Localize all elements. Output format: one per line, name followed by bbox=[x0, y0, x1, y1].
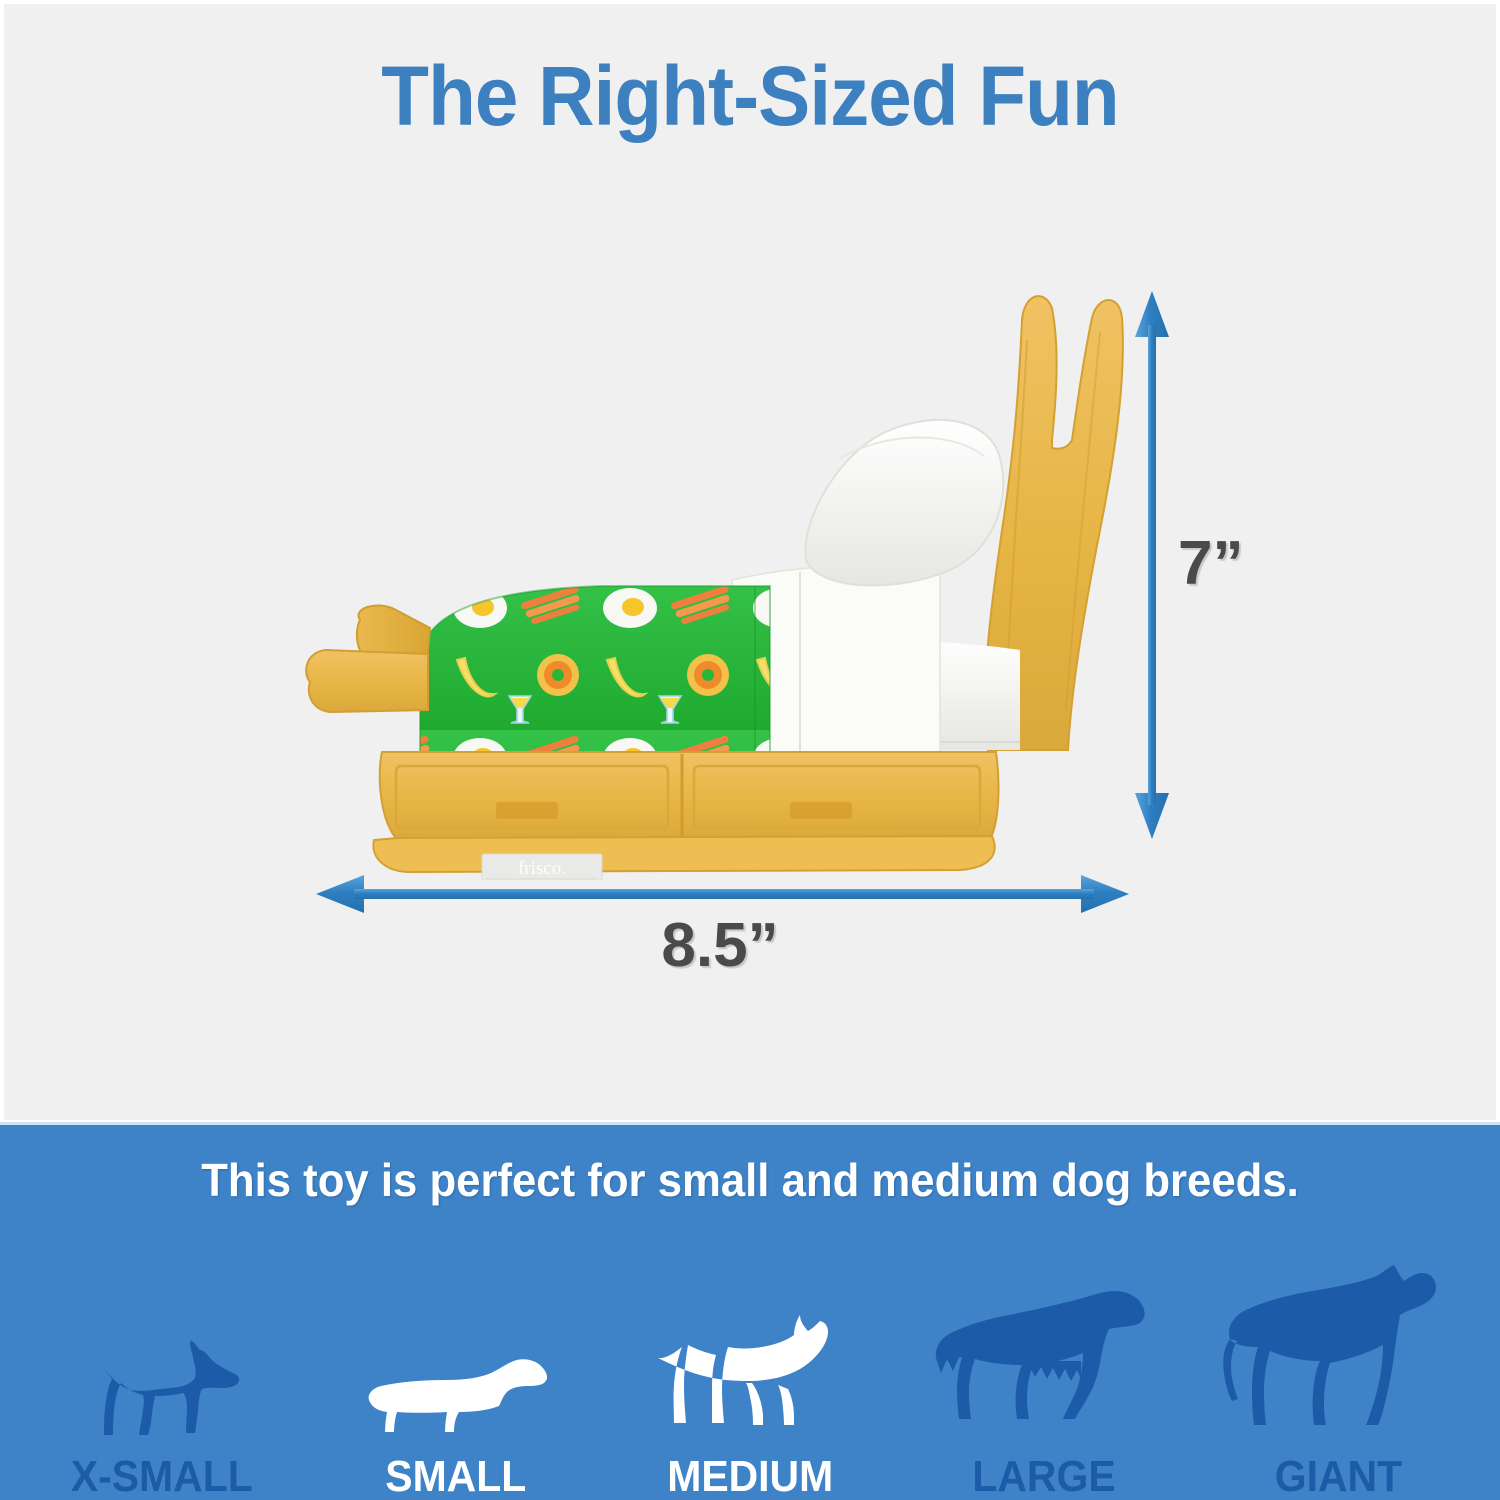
width-dimension-label: 8.5” bbox=[0, 910, 1440, 981]
size-label-medium: MEDIUM bbox=[667, 1454, 833, 1500]
dachshund-icon bbox=[359, 1273, 554, 1448]
size-label-large: LARGE bbox=[972, 1454, 1115, 1500]
banner-message: This toy is perfect for small and medium… bbox=[38, 1153, 1463, 1207]
size-option-x-small[interactable]: X-SMALL bbox=[22, 1273, 302, 1500]
great-dane-icon bbox=[1218, 1273, 1458, 1448]
bull-terrier-icon bbox=[650, 1273, 850, 1448]
blanket bbox=[400, 560, 800, 780]
bed-base bbox=[373, 752, 998, 872]
height-dimension-arrow bbox=[1128, 285, 1178, 845]
size-option-small[interactable]: SMALL bbox=[316, 1273, 596, 1500]
size-label-small: SMALL bbox=[386, 1454, 527, 1500]
size-compatibility-banner: This toy is perfect for small and medium… bbox=[0, 1122, 1500, 1500]
product-image: frisco. bbox=[300, 280, 1160, 880]
size-scale: X-SMALL SMALL MEDIUM bbox=[0, 1225, 1500, 1500]
infographic-page: The Right-Sized Fun bbox=[0, 0, 1500, 1500]
size-option-medium[interactable]: MEDIUM bbox=[610, 1273, 890, 1500]
golden-retriever-icon bbox=[929, 1273, 1159, 1448]
pillow bbox=[805, 420, 1003, 585]
size-option-giant[interactable]: GIANT bbox=[1198, 1273, 1478, 1500]
bed-foot-posts bbox=[306, 605, 430, 712]
size-label-x-small: X-SMALL bbox=[71, 1454, 253, 1500]
page-title: The Right-Sized Fun bbox=[53, 48, 1448, 145]
height-dimension-label: 7” bbox=[1178, 528, 1243, 599]
size-option-large[interactable]: LARGE bbox=[904, 1273, 1184, 1500]
size-label-giant: GIANT bbox=[1274, 1454, 1401, 1500]
chihuahua-icon bbox=[75, 1273, 250, 1448]
